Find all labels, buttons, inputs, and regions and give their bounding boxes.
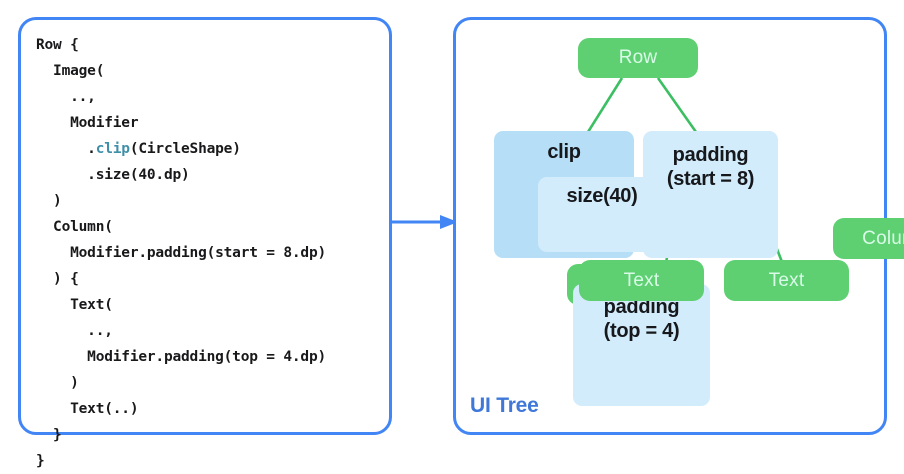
modifier-label-padding-start: padding (start = 8): [643, 143, 778, 191]
edge-row-to-padding-start: [658, 78, 696, 132]
diagram-stage: Row { Image( .., Modifier .clip(CircleSh…: [0, 0, 904, 452]
transform-arrow: [390, 214, 458, 230]
modifier-label-clip: clip: [494, 140, 634, 164]
tree-node-text-1[interactable]: Text: [579, 260, 704, 301]
tree-node-column[interactable]: Column: [833, 218, 904, 259]
tree-node-text-2[interactable]: Text: [724, 260, 849, 301]
modifier-label-padding-start-line2: (start = 8): [643, 167, 778, 191]
modifier-box-padding-top[interactable]: padding (top = 4): [573, 284, 710, 406]
ui-tree-panel: Row clip size(40) Image padding (start =…: [453, 17, 887, 435]
modifier-label-padding-top: padding (top = 4): [573, 295, 710, 343]
ui-tree-caption: UI Tree: [470, 394, 539, 418]
modifier-label-padding-top-line2: (top = 4): [573, 319, 710, 343]
arrow-icon: [390, 214, 458, 230]
tree-node-row[interactable]: Row: [578, 38, 698, 78]
modifier-box-clip[interactable]: clip size(40) Image: [494, 131, 634, 258]
edge-row-to-clip: [588, 78, 622, 132]
modifier-box-padding-start[interactable]: padding (start = 8) Column: [643, 131, 778, 258]
modifier-label-padding-start-line1: padding: [643, 143, 778, 167]
code-listing: Row { Image( .., Modifier .clip(CircleSh…: [36, 32, 383, 474]
code-panel: Row { Image( .., Modifier .clip(CircleSh…: [18, 17, 392, 435]
code-token-clip: clip: [96, 141, 130, 157]
